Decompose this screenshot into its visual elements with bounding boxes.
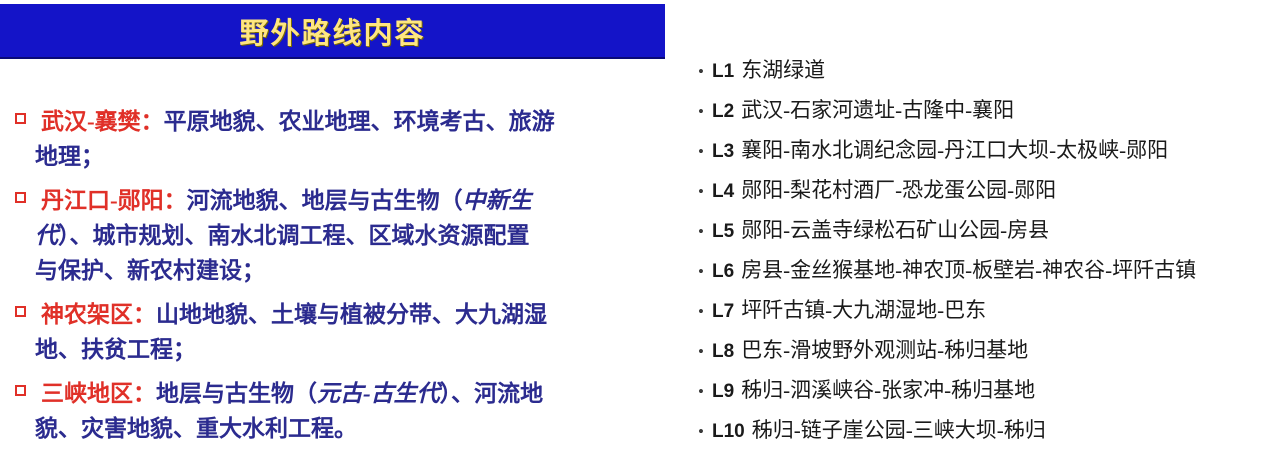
topic-body-run: ）、河流地 (440, 381, 544, 406)
dot-bullet-icon: • (690, 372, 712, 412)
topic-body-run: 代 (35, 223, 58, 248)
topic-item: 神农架区：山地地貌、土壤与植被分带、大九湖湿地、扶贫工程； (14, 297, 669, 367)
route-code: L3 (712, 141, 734, 163)
list-item: •L1东湖绿道 (690, 52, 1266, 92)
dot-bullet-icon: • (690, 412, 712, 452)
square-bullet-icon (15, 192, 26, 203)
topic-body-run: 河流地貌、地层与古生物（ (187, 188, 463, 213)
topic-line: 武汉-襄樊：平原地貌、农业地理、环境考古、旅游 (41, 104, 669, 139)
topic-body-run: 平原地貌、农业地理、环境考古、旅游 (164, 109, 555, 134)
slide-root: 野外路线内容 武汉-襄樊：平原地貌、农业地理、环境考古、旅游地理；丹江口-郧阳：… (0, 0, 1266, 476)
route-description: 郧阳-梨花村酒厂-恐龙蛋公园-郧阳 (741, 174, 1056, 204)
square-bullet-icon (15, 113, 26, 124)
list-item: •L10秭归-链子崖公园-三峡大坝-秭归 (690, 412, 1266, 452)
square-bullet-icon (15, 385, 26, 396)
square-bullet-icon (15, 306, 26, 317)
dot-bullet-icon: • (690, 172, 712, 212)
route-code: L10 (712, 421, 745, 443)
page-title: 野外路线内容 (239, 10, 425, 52)
list-item: •L9秭归-泗溪峡谷-张家冲-秭归基地 (690, 372, 1266, 412)
list-item: •L7坪阡古镇-大九湖湿地-巴东 (690, 292, 1266, 332)
list-item: •L3襄阳-南水北调纪念园-丹江口大坝-太极峡-郧阳 (690, 132, 1266, 172)
route-code: L9 (712, 381, 734, 403)
list-item: •L4郧阳-梨花村酒厂-恐龙蛋公园-郧阳 (690, 172, 1266, 212)
dot-bullet-icon: • (690, 292, 712, 332)
topic-body-run: 元古-古生代 (317, 381, 440, 406)
title-banner: 野外路线内容 (0, 4, 665, 59)
route-description: 秭归-链子崖公园-三峡大坝-秭归 (752, 414, 1046, 444)
route-code: L5 (712, 221, 734, 243)
list-item: •L5郧阳-云盖寺绿松石矿山公园-房县 (690, 212, 1266, 252)
topic-line: 三峡地区：地层与古生物（元古-古生代）、河流地 (41, 376, 669, 411)
topic-body-run: 与保护、新农村建设； (35, 258, 265, 283)
route-description: 武汉-石家河遗址-古隆中-襄阳 (741, 94, 1014, 124)
topic-line: 地理； (35, 139, 669, 174)
topic-body-run: ）、城市规划、南水北调工程、区域水资源配置 (58, 223, 530, 248)
dot-bullet-icon: • (690, 332, 712, 372)
topic-line: 貌、灾害地貌、重大水利工程。 (35, 411, 669, 446)
dot-bullet-icon: • (690, 132, 712, 172)
left-pane: 野外路线内容 武汉-襄樊：平原地貌、农业地理、环境考古、旅游地理；丹江口-郧阳：… (0, 0, 672, 476)
topic-body-run: 地、扶贫工程； (35, 337, 196, 362)
list-item: •L2武汉-石家河遗址-古隆中-襄阳 (690, 92, 1266, 132)
route-code: L7 (712, 301, 734, 323)
right-pane: •L1东湖绿道•L2武汉-石家河遗址-古隆中-襄阳•L3襄阳-南水北调纪念园-丹… (678, 0, 1266, 476)
topic-heading-run: 丹江口-郧阳： (41, 188, 187, 213)
route-list: •L1东湖绿道•L2武汉-石家河遗址-古隆中-襄阳•L3襄阳-南水北调纪念园-丹… (690, 52, 1266, 452)
route-code: L6 (712, 261, 734, 283)
topic-line: 与保护、新农村建设； (35, 253, 669, 288)
topic-body-run: 地层与古生物（ (156, 381, 317, 406)
topic-body-run: 地理； (35, 144, 104, 169)
route-description: 房县-金丝猴基地-神农顶-板壁岩-神农谷-坪阡古镇 (741, 254, 1196, 284)
route-description: 秭归-泗溪峡谷-张家冲-秭归基地 (741, 374, 1035, 404)
topic-list: 武汉-襄樊：平原地貌、农业地理、环境考古、旅游地理；丹江口-郧阳：河流地貌、地层… (14, 104, 669, 455)
dot-bullet-icon: • (690, 92, 712, 132)
topic-body-run: 山地地貌、土壤与植被分带、大九湖湿 (156, 302, 547, 327)
dot-bullet-icon: • (690, 252, 712, 292)
topic-item: 丹江口-郧阳：河流地貌、地层与古生物（中新生代）、城市规划、南水北调工程、区域水… (14, 183, 669, 288)
route-description: 巴东-滑坡野外观测站-秭归基地 (741, 334, 1028, 364)
route-code: L2 (712, 101, 734, 123)
topic-line: 神农架区：山地地貌、土壤与植被分带、大九湖湿 (41, 297, 669, 332)
topic-line: 地、扶贫工程； (35, 332, 669, 367)
route-code: L1 (712, 61, 734, 83)
route-code: L4 (712, 181, 734, 203)
list-item: •L6房县-金丝猴基地-神农顶-板壁岩-神农谷-坪阡古镇 (690, 252, 1266, 292)
route-description: 郧阳-云盖寺绿松石矿山公园-房县 (741, 214, 1049, 244)
topic-line: 代）、城市规划、南水北调工程、区域水资源配置 (35, 218, 669, 253)
topic-heading-run: 三峡地区： (41, 381, 156, 406)
list-item: •L8巴东-滑坡野外观测站-秭归基地 (690, 332, 1266, 372)
topic-line: 丹江口-郧阳：河流地貌、地层与古生物（中新生 (41, 183, 669, 218)
topic-item: 武汉-襄樊：平原地貌、农业地理、环境考古、旅游地理； (14, 104, 669, 174)
dot-bullet-icon: • (690, 212, 712, 252)
topic-heading-run: 神农架区： (41, 302, 156, 327)
topic-item: 三峡地区：地层与古生物（元古-古生代）、河流地貌、灾害地貌、重大水利工程。 (14, 376, 669, 446)
route-code: L8 (712, 341, 734, 363)
route-description: 襄阳-南水北调纪念园-丹江口大坝-太极峡-郧阳 (741, 134, 1168, 164)
route-description: 坪阡古镇-大九湖湿地-巴东 (741, 294, 986, 324)
topic-heading-run: 武汉-襄樊： (41, 109, 164, 134)
route-description: 东湖绿道 (741, 54, 825, 84)
dot-bullet-icon: • (690, 52, 712, 92)
topic-body-run: 中新生 (463, 188, 532, 213)
topic-body-run: 貌、灾害地貌、重大水利工程。 (35, 416, 357, 441)
